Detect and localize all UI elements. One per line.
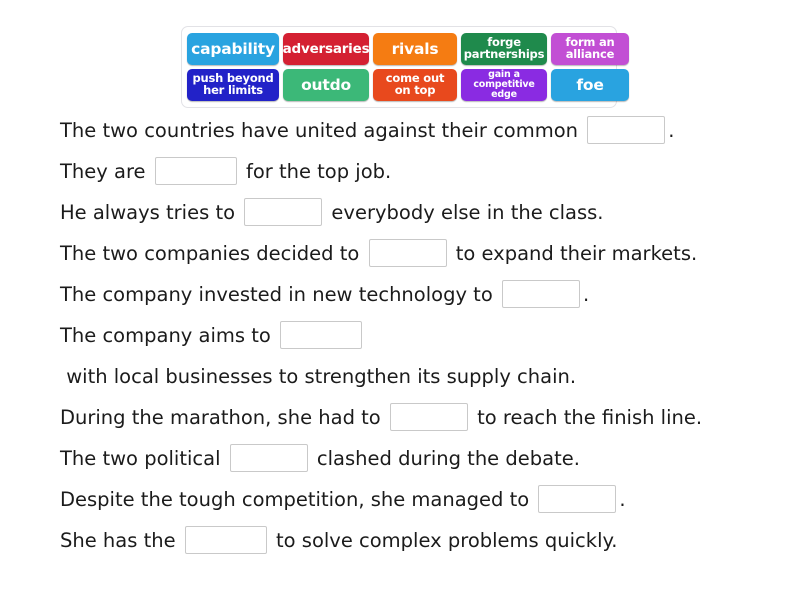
word-tile-label: on top <box>386 85 445 97</box>
answer-blank[interactable] <box>587 116 665 144</box>
word-tile-label: alliance <box>565 49 614 61</box>
word-bank-row: push beyondher limitsoutdocome outon top… <box>187 69 611 101</box>
answer-blank[interactable] <box>230 444 308 472</box>
word-tile-forge-partnerships[interactable]: forgepartnerships <box>461 33 547 65</box>
word-tile-label: capability <box>191 41 275 57</box>
word-tile-label: foe <box>576 77 603 93</box>
word-tile-capability[interactable]: capability <box>187 33 279 65</box>
sentence-list: The two countries have united against th… <box>60 110 780 561</box>
word-tile-gain-a-competitive-edge[interactable]: gain acompetitive edge <box>461 69 547 101</box>
answer-blank[interactable] <box>502 280 580 308</box>
answer-blank[interactable] <box>280 321 362 349</box>
word-tile-label: rivals <box>392 41 439 57</box>
sentence-text-after: to solve complex problems quickly. <box>270 529 618 552</box>
sentence-line: During the marathon, she had to to reach… <box>60 397 780 438</box>
sentence-text-after: with local businesses to strengthen its … <box>60 365 576 388</box>
sentence-line: They are for the top job. <box>60 151 780 192</box>
sentence-text-before: The company invested in new technology t… <box>60 283 499 306</box>
sentence-text-after: to expand their markets. <box>450 242 698 265</box>
sentence-text-after: . <box>619 488 625 511</box>
sentence-text-after: . <box>583 283 589 306</box>
sentence-line: She has the to solve complex problems qu… <box>60 520 780 561</box>
sentence-text-before: The two political <box>60 447 227 470</box>
sentence-text-after: to reach the finish line. <box>471 406 702 429</box>
sentence-line: The company invested in new technology t… <box>60 274 780 315</box>
sentence-line: The two countries have united against th… <box>60 110 780 151</box>
answer-blank[interactable] <box>155 157 237 185</box>
word-tile-label: adversaries <box>283 42 370 56</box>
sentence-line: The two political clashed during the deb… <box>60 438 780 479</box>
answer-blank[interactable] <box>244 198 322 226</box>
word-bank-row: capabilityadversariesrivalsforgepartners… <box>187 33 611 65</box>
sentence-text-after: clashed during the debate. <box>311 447 580 470</box>
sentence-text-before: He always tries to <box>60 201 241 224</box>
sentence-line: Despite the tough competition, she manag… <box>60 479 780 520</box>
word-tile-label: partnerships <box>464 49 544 61</box>
answer-blank[interactable] <box>185 526 267 554</box>
word-tile-adversaries[interactable]: adversaries <box>283 33 369 65</box>
sentence-text-before: She has the <box>60 529 182 552</box>
sentence-text-after: everybody else in the class. <box>325 201 603 224</box>
word-tile-foe[interactable]: foe <box>551 69 629 101</box>
word-tile-outdo[interactable]: outdo <box>283 69 369 101</box>
word-tile-come-out-on-top[interactable]: come outon top <box>373 69 457 101</box>
sentence-text-after: . <box>668 119 674 142</box>
word-tile-rivals[interactable]: rivals <box>373 33 457 65</box>
answer-blank[interactable] <box>369 239 447 267</box>
word-tile-form-an-alliance[interactable]: form analliance <box>551 33 629 65</box>
word-bank: capabilityadversariesrivalsforgepartners… <box>181 26 617 108</box>
word-tile-push-beyond-her-limits[interactable]: push beyondher limits <box>187 69 279 101</box>
sentence-text-before: During the marathon, she had to <box>60 406 387 429</box>
sentence-text-before: Despite the tough competition, she manag… <box>60 488 535 511</box>
word-tile-label: outdo <box>301 77 351 93</box>
answer-blank[interactable] <box>390 403 468 431</box>
sentence-text-after: for the top job. <box>240 160 392 183</box>
sentence-text-before: They are <box>60 160 152 183</box>
sentence-text-before: The company aims to <box>60 324 277 347</box>
word-tile-label: competitive edge <box>465 80 543 100</box>
sentence-text-before: The two countries have united against th… <box>60 119 584 142</box>
sentence-line: He always tries to everybody else in the… <box>60 192 780 233</box>
word-tile-label: her limits <box>192 85 273 97</box>
answer-blank[interactable] <box>538 485 616 513</box>
sentence-line: The company aims to with local businesse… <box>60 315 780 397</box>
sentence-text-before: The two companies decided to <box>60 242 366 265</box>
sentence-line: The two companies decided to to expand t… <box>60 233 780 274</box>
